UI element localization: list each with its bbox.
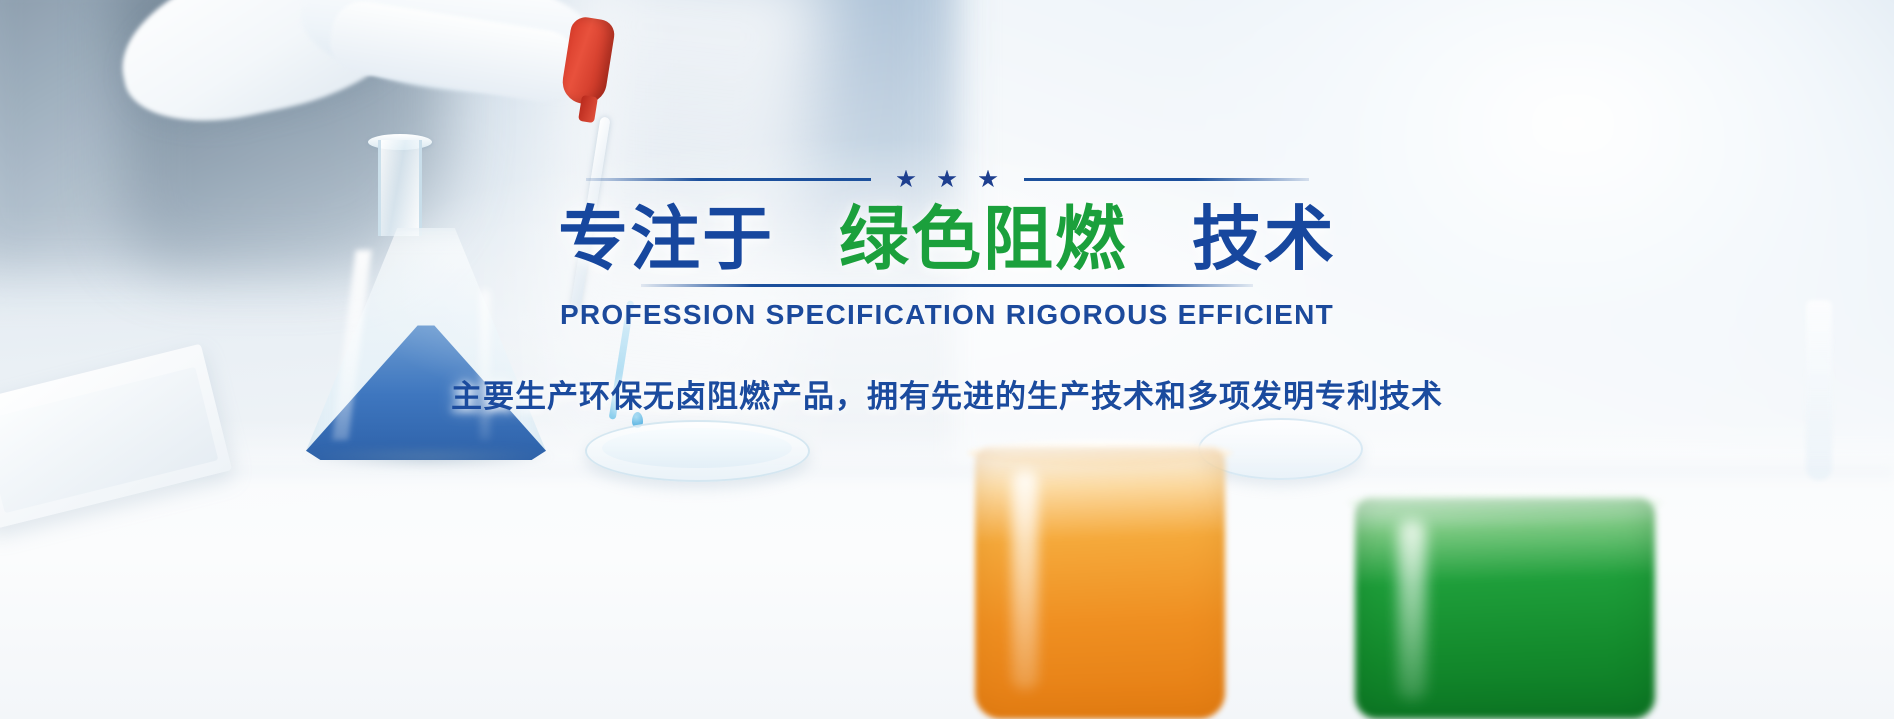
description-chinese: 主要生产环保无卤阻燃产品，拥有先进的生产技术和多项发明专利技术 [0,371,1894,416]
page-title: 专注于 绿色阻燃 技术 [0,200,1894,278]
banner-content: 专注于 绿色阻燃 技术 PROFESSION SPECIFICATION RIG… [0,168,1894,416]
star-icon-3 [979,170,998,189]
green-beaker-highlight [1398,520,1426,700]
flask-shadow [300,448,556,470]
decorative-divider [0,168,1894,190]
petri-dish-inner [602,428,792,468]
star-group [871,170,1024,189]
headline-part-3: 技术 [1192,200,1336,278]
divider-rule-right [1024,178,1309,181]
headline-underline [641,284,1253,287]
hero-banner: 专注于 绿色阻燃 技术 PROFESSION SPECIFICATION RIG… [0,0,1894,719]
headline-part-2: 绿色阻燃 [839,200,1127,278]
divider-rule-left [586,178,871,181]
subtitle-english: PROFESSION SPECIFICATION RIGOROUS EFFICI… [0,299,1894,331]
star-icon [897,170,916,189]
headline-part-1: 专注于 [558,200,774,278]
star-icon-2 [938,170,957,189]
orange-beaker-highlight [1012,470,1038,690]
